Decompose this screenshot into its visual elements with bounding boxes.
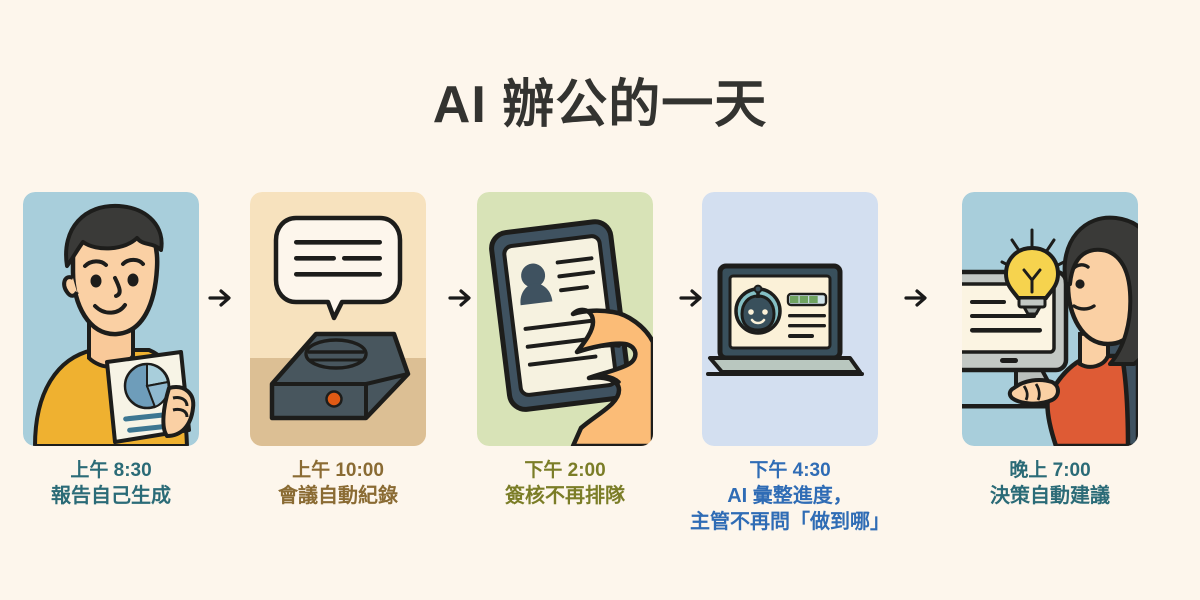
arrow-right-icon-2 [445,283,475,313]
arrow-right-icon-1 [205,283,235,313]
step-description-1: 報告自己生成 [0,483,236,509]
step-description-3: 簽核不再排隊 [440,483,690,509]
arrow-right-icon-4 [901,283,931,313]
step-caption-3: 下午 2:00 簽核不再排隊 [440,458,690,509]
step-description-4-line2: 主管不再問「做到哪」 [665,509,915,535]
infographic-root: AI 辦公的一天 [0,0,1200,600]
step-description-4: AI 彙整進度， [665,483,915,509]
tablet-approval-tap-icon [477,192,653,446]
step-time-4: 下午 4:30 [665,458,915,483]
step-panel-5 [962,192,1138,446]
step-caption-5: 晚上 7:00 決策自動建議 [925,458,1175,509]
step-time-1: 上午 8:30 [0,458,236,483]
step-caption-4: 下午 4:30 AI 彙整進度， 主管不再問「做到哪」 [665,458,915,536]
step-time-3: 下午 2:00 [440,458,690,483]
step-description-2: 會議自動紀錄 [213,483,463,509]
meeting-recorder-device-icon [250,192,426,446]
step-panel-1 [23,192,199,446]
laptop-ai-progress-icon [702,192,878,446]
step-panel-2 [250,192,426,446]
woman-desktop-idea-icon [962,192,1138,446]
step-panel-3 [477,192,653,446]
person-holding-report-icon [23,192,199,446]
step-caption-2: 上午 10:00 會議自動紀錄 [213,458,463,509]
step-caption-1: 上午 8:30 報告自己生成 [0,458,236,509]
step-description-5: 決策自動建議 [925,483,1175,509]
step-time-5: 晚上 7:00 [925,458,1175,483]
step-time-2: 上午 10:00 [213,458,463,483]
step-panel-4 [702,192,878,446]
page-title: AI 辦公的一天 [0,62,1200,137]
